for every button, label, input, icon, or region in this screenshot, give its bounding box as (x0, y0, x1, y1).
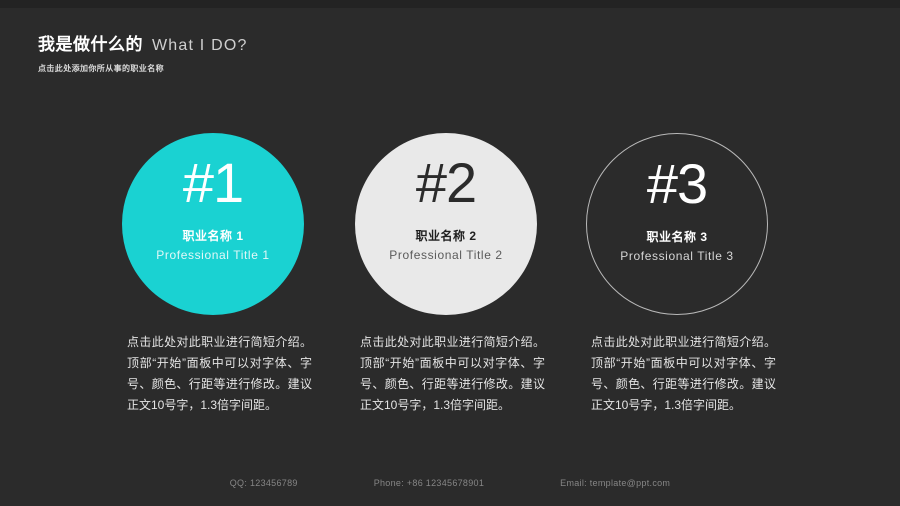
slide-canvas: 我是做什么的 What I DO? 点击此处添加你所从事的职业名称 #1 职业名… (0, 0, 900, 506)
footer-phone: Phone: +86 12345678901 (374, 478, 484, 488)
page-title-en: What I DO? (152, 37, 248, 55)
circle-item-3[interactable]: #3 职业名称 3 Professional Title 3 (586, 133, 768, 315)
slide-header: 我是做什么的 What I DO? 点击此处添加你所从事的职业名称 (38, 30, 248, 74)
circle-title-cn-3: 职业名称 3 (646, 228, 707, 245)
circle-number-3: #3 (647, 156, 707, 212)
slide-footer: QQ: 123456789 Phone: +86 12345678901 Ema… (0, 478, 900, 488)
circle-title-en-2: Professional Title 2 (389, 248, 502, 262)
circle-row: #1 职业名称 1 Professional Title 1 #2 职业名称 2… (122, 133, 782, 315)
slide-top-edge (0, 0, 900, 8)
circle-number-1: #1 (183, 155, 243, 211)
circle-title-en-1: Professional Title 1 (156, 248, 269, 262)
circle-item-2[interactable]: #2 职业名称 2 Professional Title 2 (355, 133, 537, 315)
circle-number-2: #2 (416, 155, 476, 211)
footer-qq: QQ: 123456789 (230, 478, 298, 488)
circle-item-1[interactable]: #1 职业名称 1 Professional Title 1 (122, 133, 304, 315)
circle-title-cn-2: 职业名称 2 (415, 227, 476, 244)
body-text-1: 点击此处对此职业进行简短介绍。顶部“开始”面板中可以对字体、字号、颜色、行距等进… (127, 332, 312, 416)
header-title-group: 我是做什么的 What I DO? (38, 30, 248, 55)
circle-title-en-3: Professional Title 3 (620, 249, 733, 263)
page-title-cn: 我是做什么的 (38, 30, 143, 55)
circle-title-cn-1: 职业名称 1 (182, 227, 243, 244)
footer-email: Email: template@ppt.com (560, 478, 670, 488)
body-text-2: 点击此处对此职业进行简短介绍。顶部“开始”面板中可以对字体、字号、颜色、行距等进… (360, 332, 545, 416)
page-subtitle: 点击此处添加你所从事的职业名称 (38, 63, 248, 74)
body-text-3: 点击此处对此职业进行简短介绍。顶部“开始”面板中可以对字体、字号、颜色、行距等进… (591, 332, 776, 416)
